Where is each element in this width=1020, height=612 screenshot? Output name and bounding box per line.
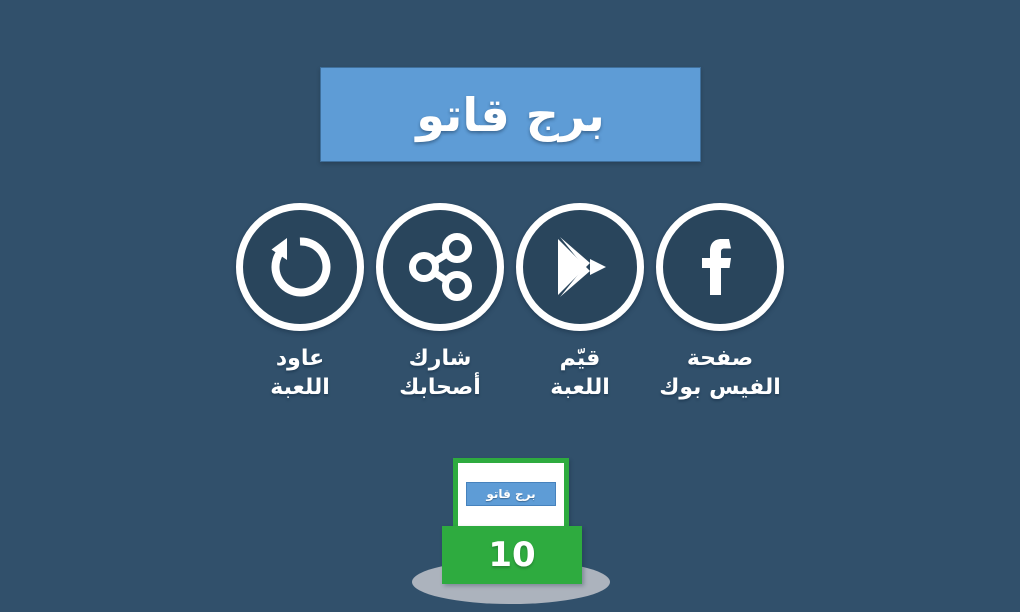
score-card-banner-text: برج قاتو [486, 487, 535, 501]
share-label-line1: شارك [409, 346, 472, 371]
replay-label-line2: اللعبة [270, 375, 330, 400]
game-over-screen: برج قاتو عاود اللعبة [0, 0, 1020, 612]
facebook-icon [684, 231, 756, 303]
facebook-page-button-circle[interactable] [656, 203, 784, 331]
rate-label-line2: اللعبة [550, 375, 610, 400]
score-card: برج قاتو [453, 458, 569, 530]
game-title-banner: برج قاتو [320, 67, 701, 162]
replay-label-line1: عاود [276, 346, 324, 371]
replay-button-label: عاود اللعبة [225, 344, 375, 402]
replay-button[interactable]: عاود اللعبة [230, 203, 370, 413]
score-card-banner: برج قاتو [466, 482, 556, 506]
score-base: 10 [442, 526, 582, 584]
game-title-text: برج قاتو [416, 92, 605, 138]
share-button-label: شارك أصحابك [365, 344, 515, 402]
replay-button-circle[interactable] [236, 203, 364, 331]
rate-game-button[interactable]: قيّم اللعبة [510, 203, 650, 413]
share-button-circle[interactable] [376, 203, 504, 331]
score-widget: برج قاتو 10 [400, 450, 630, 612]
share-label-line2: أصحابك [399, 375, 481, 400]
rate-game-button-circle[interactable] [516, 203, 644, 331]
facebook-label-line2: الفيس بوك [659, 375, 781, 400]
share-button[interactable]: شارك أصحابك [370, 203, 510, 413]
facebook-page-button-label: صفحة الفيس بوك [645, 344, 795, 402]
action-buttons-row: عاود اللعبة شارك أصحابك [230, 203, 800, 413]
score-value: 10 [488, 538, 535, 572]
replay-icon [263, 230, 337, 304]
facebook-page-button[interactable]: صفحة الفيس بوك [650, 203, 790, 413]
share-icon [402, 229, 478, 305]
google-play-icon [544, 231, 616, 303]
rate-game-button-label: قيّم اللعبة [505, 344, 655, 402]
facebook-label-line1: صفحة [687, 346, 753, 371]
rate-label-line1: قيّم [560, 346, 601, 371]
